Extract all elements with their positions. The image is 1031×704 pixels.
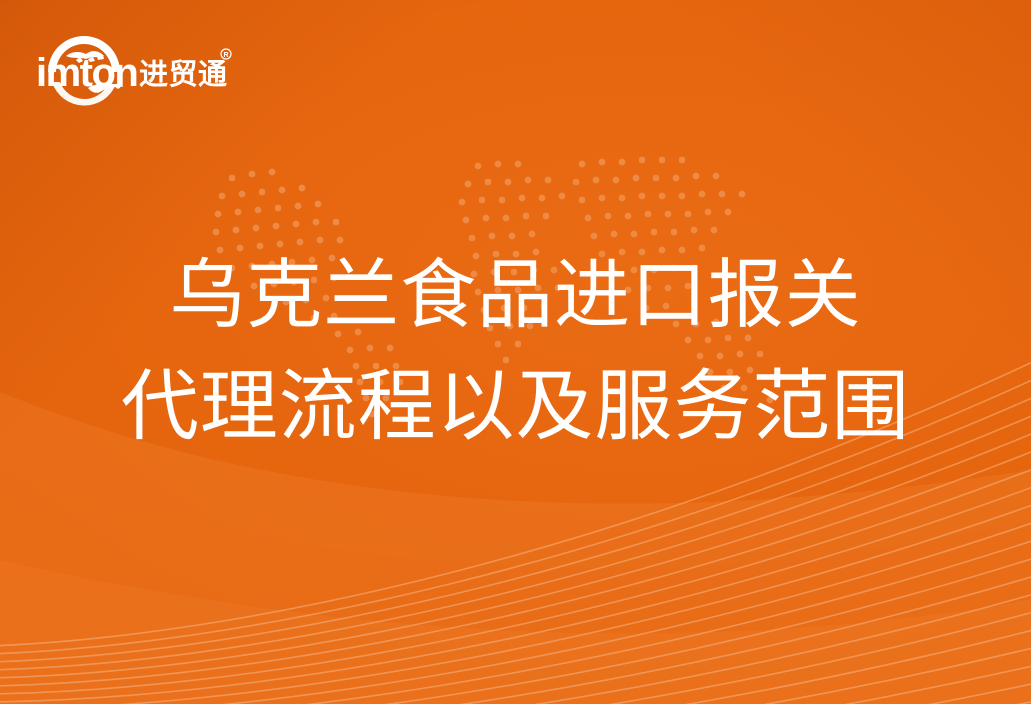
svg-text:imton: imton: [36, 51, 137, 95]
imton-logo[interactable]: imton 进贸通 R: [36, 26, 236, 108]
logo-wordmark-latin: imton: [36, 51, 137, 95]
svg-text:进贸通: 进贸通: [139, 58, 228, 91]
svg-text:R: R: [223, 52, 228, 59]
trademark-icon: R: [221, 49, 231, 59]
promo-banner: imton 进贸通 R 乌克兰食品进口报关 代理流程以及服务范围: [0, 0, 1031, 704]
logo-wordmark-chinese: 进贸通: [139, 58, 228, 91]
